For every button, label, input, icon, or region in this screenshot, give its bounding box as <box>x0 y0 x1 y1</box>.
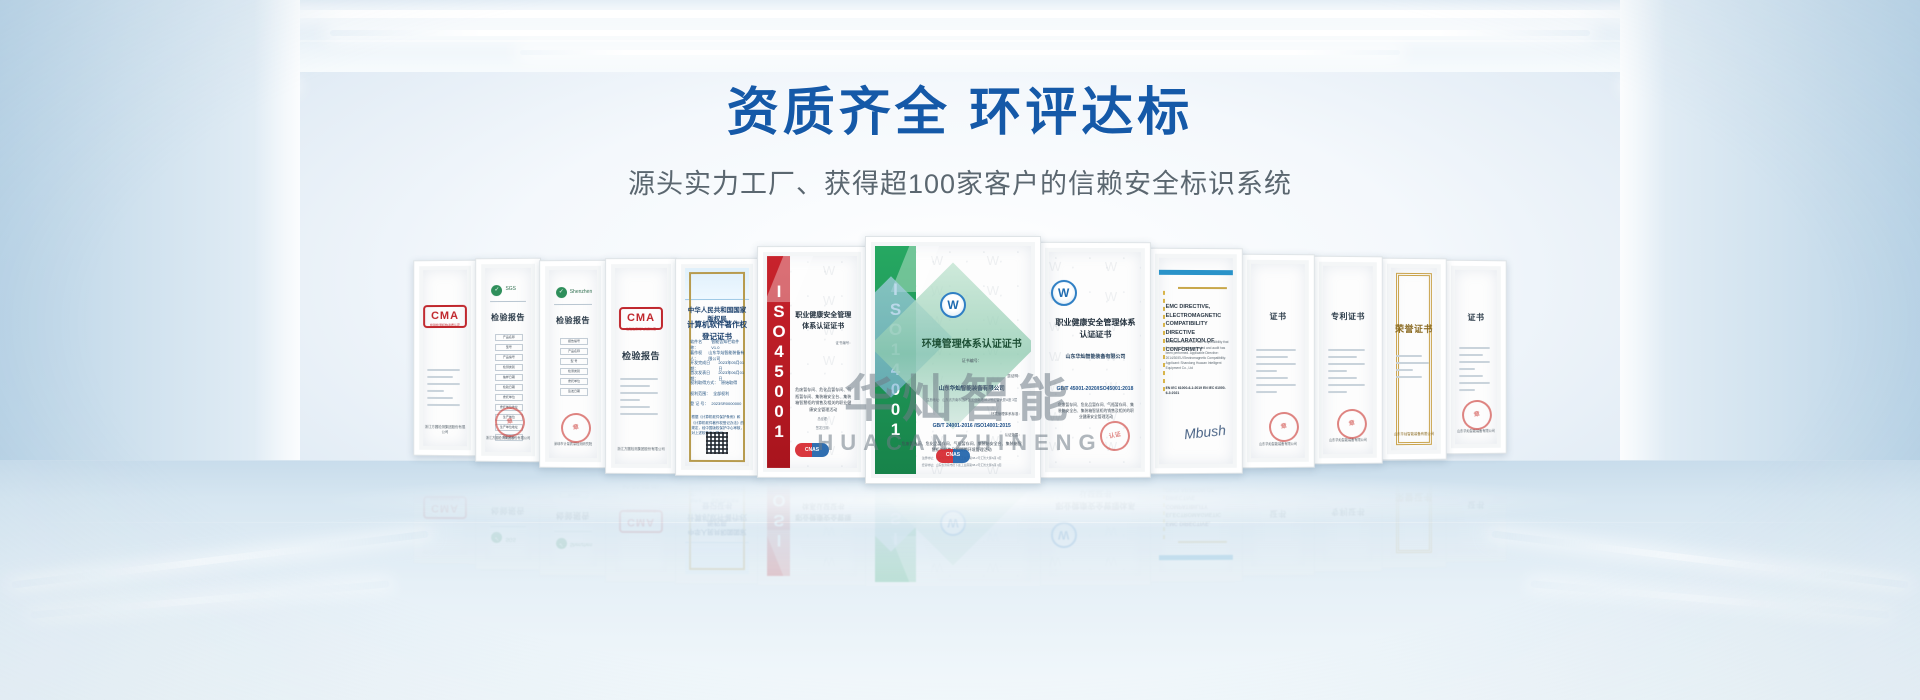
iso-standard-label: ISO45001 <box>767 282 791 442</box>
banner-headings: 资质齐全 环评达标 源头实力工厂、获得超100家客户的信赖安全标识系统 <box>0 84 1920 201</box>
org-mark-label: Shenzhen <box>570 289 593 297</box>
cert-heading: 荣誉证书 <box>1391 323 1437 337</box>
cert-field: 型 号 <box>560 358 589 365</box>
certificate-paper: CMA检验检测机构资质认定浙江方圆检测集团股份有限公司 <box>423 270 467 446</box>
certificate-frame[interactable]: 证书山东华灿智能装备有限公司章 <box>1445 260 1507 455</box>
cert-footer: 浙江方圆检测集团股份有限公司 <box>615 447 667 452</box>
company-address: 注册地址：山东省济南市历下区工业南路98-2号汇智大厦A座 3层 <box>922 398 1022 403</box>
certificate-wall-reflection: CMA检验检测机构资质认定浙江方圆检测集团股份有限公司✓SGS检验报告产品名称型… <box>310 478 1610 586</box>
certificate-frame[interactable]: W W W W W W W W W W W W W W W W W W W W … <box>865 236 1041 484</box>
red-seal-stamp: 章 <box>1334 406 1369 442</box>
certificate-wall: CMA检验检测机构资质认定浙江方圆检测集团股份有限公司✓SGS检验报告产品名称型… <box>310 228 1610 478</box>
qr-code-icon <box>706 432 728 454</box>
certificate-frame[interactable]: W W W W W W W W W W W W W W W W W W W W … <box>1039 242 1151 478</box>
cert-heading: 检验报告 <box>549 509 597 521</box>
cert-footer: 山东华灿智能装备有限公司 <box>1391 432 1437 437</box>
cert-field: 抽样日期 <box>495 374 523 381</box>
accreditation-org-logo: ✓SGS <box>492 532 516 543</box>
accreditation-org-logo: ✓SGS <box>492 284 516 295</box>
certificate-frame[interactable]: CMA检验检测机构资质认定浙江方圆检测集团股份有限公司 <box>413 260 477 457</box>
cert-field: 产品名称 <box>560 481 589 488</box>
cert-body-lines <box>1396 355 1433 383</box>
cert-heading: 证书 <box>1455 312 1497 324</box>
certificate-frame[interactable]: ✓SGS检验报告产品名称型号产品编号检测类别抽样日期检验日期委托单位委托单位地址… <box>475 258 541 463</box>
signature-graphic: Mbush <box>1183 420 1227 445</box>
cert-field: 权利范围：全部权利 <box>690 391 745 397</box>
cert-footer: 山东华灿智能装备有限公司 <box>1251 441 1305 446</box>
ce-rule <box>1178 287 1227 289</box>
cert-field: 报告编号 <box>560 338 589 345</box>
certificate-frame[interactable]: 中华人民共和国国家版权局计算机软件著作权登记证书软件名称：智能告知栏软件 V1.… <box>675 258 759 476</box>
cma-badge-subtitle: 检验检测机构资质认定 <box>423 497 467 502</box>
cert-number: 证书编号： <box>922 358 1022 364</box>
cma-badge-subtitle: 检验检测机构资质认定 <box>615 327 667 332</box>
cert-rule <box>554 304 592 305</box>
org-mark-label: SGS <box>505 534 516 542</box>
certification-seal-icon <box>1051 522 1077 548</box>
cert-field: 签发日期 <box>560 388 589 395</box>
standard-code: GB/T 45001-2020/ISO45001:2018 <box>1049 386 1141 394</box>
cert-heading: 检验报告 <box>615 350 667 364</box>
cert-heading: 检验报告 <box>615 476 667 490</box>
cert-heading: 证书 <box>1251 310 1305 322</box>
cert-field: 产品名称 <box>495 487 523 494</box>
certificate-paper: 证书山东华灿智能装备有限公司章 <box>1251 264 1305 458</box>
accreditation-ribbon: CNAS <box>795 443 829 457</box>
org-mark-label: SGS <box>505 286 516 294</box>
certificate-frame[interactable]: 专利证书山东华灿智能装备有限公司章 <box>1313 256 1383 465</box>
cma-badge-subtitle: 检验检测机构资质认定 <box>615 509 667 514</box>
cert-body-lines <box>620 378 662 420</box>
scope-text: 危废暂存间、危化品暂存间、气瓶暂存间、集装箱安全台、集装箱智慧柜的销售及相关的职… <box>794 387 853 413</box>
cert-rule <box>490 301 527 302</box>
cert-number: 证书编号： <box>1054 489 1136 494</box>
certificate-frame[interactable]: 荣誉证书山东华灿智能装备有限公司 <box>1381 258 1447 461</box>
cert-number: 证书编号： <box>1054 334 1136 339</box>
certificate-paper: ✓Shenzhen检验报告报告编号产品名称型 号检测类别委托单位签发日期深圳市计… <box>549 270 597 458</box>
accreditation-org-logo: ✓Shenzhen <box>556 287 592 298</box>
ceiling-light-strip-3 <box>520 50 1400 55</box>
floor-light-left-2 <box>30 580 389 618</box>
cert-heading: 专利证书 <box>1323 311 1373 323</box>
cert-field: 产品名称 <box>495 334 523 341</box>
cert-heading: 荣誉证书 <box>1391 490 1437 504</box>
certificate-frame[interactable]: CMA检验检测机构资质认定检验报告浙江方圆检测集团股份有限公司 <box>605 258 677 474</box>
certificate-frame[interactable]: 证书山东华灿智能装备有限公司章 <box>1241 254 1315 469</box>
cert-heading: 检验报告 <box>485 312 531 324</box>
certificate-frame[interactable]: EMC DIRECTIVE,ELECTROMAGNETIC COMPATIBIL… <box>1149 248 1243 475</box>
red-seal-stamp: 章 <box>1459 397 1494 433</box>
page-title: 资质齐全 环评达标 <box>0 84 1920 142</box>
cert-number: 证书编号： <box>794 486 853 491</box>
certificate-frame[interactable]: W W W W W W W W W W W W W W W W W W W W … <box>757 246 867 478</box>
certificate-frame[interactable]: ✓Shenzhen检验报告报告编号产品名称型 号检测类别委托单位签发日期深圳市计… <box>539 260 607 468</box>
ce-rule <box>1178 541 1227 543</box>
ce-body-text: We declare under our sole responsibility… <box>1166 340 1229 371</box>
cert-field: 检验日期 <box>495 384 523 391</box>
certification-seal-icon <box>1051 280 1077 306</box>
certification-seal-icon <box>940 292 966 318</box>
accreditation-org-logo: ✓Shenzhen <box>556 538 592 549</box>
cert-heading-2: 计算机软件著作权登记证书 <box>685 500 749 523</box>
cert-heading: 检验报告 <box>485 504 531 516</box>
certificate-paper: EMC DIRECTIVE,ELECTROMAGNETIC COMPATIBIL… <box>1159 258 1233 464</box>
certificate-paper: 中华人民共和国国家版权局计算机软件著作权登记证书软件名称：智能告知栏软件 V1.… <box>685 268 749 466</box>
company-label: 兹证明： <box>922 374 1022 379</box>
standard-label: 环境管理体系标准： <box>922 412 1022 417</box>
org-mark-label: Shenzhen <box>570 540 593 548</box>
ce-top-bar <box>1159 554 1233 559</box>
cert-field: 检测类别 <box>560 368 589 375</box>
certificate-paper: 荣誉证书山东华灿智能装备有限公司 <box>1391 268 1437 450</box>
ceiling-light-strip-2 <box>330 30 1590 36</box>
cert-field: 检测类别 <box>495 364 523 371</box>
cert-field: 委托单位 <box>560 378 589 385</box>
cert-heading: 职业健康安全管理体系认证证书 <box>794 500 853 521</box>
org-mark-icon: ✓ <box>492 285 503 296</box>
cert-field: 产品名称 <box>560 348 589 355</box>
issuer-line: 总经理： <box>798 417 850 422</box>
cert-number: 证书编号： <box>794 341 853 346</box>
cma-badge-icon: CMA <box>619 510 663 533</box>
address-line: 经营地址：山东省济南市历下区工业南路98-2号汇智大厦A座 3层 <box>900 463 1023 467</box>
cert-body-lines <box>1459 347 1492 396</box>
certificate-paper: 证书山东华灿智能装备有限公司章 <box>1455 270 1497 444</box>
cert-field: 著作权人：山东华灿智能装备有限公司 <box>690 480 745 492</box>
cert-heading: 职业健康安全管理体系认证证书 <box>794 311 853 332</box>
cert-field: 登 记 号：2023SR0000000 <box>690 401 745 407</box>
org-mark-icon: ✓ <box>556 538 567 549</box>
cert-body-lines <box>1256 349 1299 398</box>
certificate-paper: W W W W W W W W W W W W W W W W W W W W … <box>875 246 1031 474</box>
accreditation-ribbon: CNAS <box>936 449 970 463</box>
certification-seal-icon <box>940 510 966 536</box>
cert-footer: 浙江方圆检测集团股份有限公司 <box>423 425 467 436</box>
ceiling-light-strip-1 <box>150 10 1770 18</box>
standard-code: GB/T 24001-2016 /ISO14001:2015 <box>919 423 1025 431</box>
certificate-paper: W W W W W W W W W W W W W W W W W W W W … <box>767 256 857 468</box>
ce-top-bar <box>1159 270 1233 275</box>
certificate-paper: 专利证书山东华灿智能装备有限公司章 <box>1323 266 1373 454</box>
company-name: 山东华灿智能装备有限公司 <box>922 385 1022 393</box>
cert-heading: 证书 <box>1251 507 1305 519</box>
cert-field: 委托单位 <box>495 394 523 401</box>
org-mark-icon: ✓ <box>556 287 567 298</box>
iso-standard-band: ISO45001 <box>767 256 790 468</box>
page-subtitle: 源头实力工厂、获得超100家客户的信赖安全标识系统 <box>0 162 1920 201</box>
red-seal-stamp: 章 <box>1266 410 1301 446</box>
scope-text: 危废暂存间、危化品暂存间、气瓶暂存间、集装箱安全台、集装箱智慧柜的销售及相关的职… <box>1056 403 1135 421</box>
floor-light-right-2 <box>1530 580 1889 618</box>
certificate-paper: ✓SGS检验报告产品名称型号产品编号检测类别抽样日期检验日期委托单位委托单位地址… <box>485 268 531 452</box>
cert-field: 报告编号 <box>560 491 589 498</box>
cert-body-lines <box>1328 349 1368 398</box>
cert-rule <box>490 526 527 527</box>
company-name: 山东华灿智能装备有限公司 <box>1054 354 1136 362</box>
cma-badge-subtitle: 检验检测机构资质认定 <box>423 323 467 328</box>
org-mark-icon: ✓ <box>492 532 503 543</box>
certificate-paper: CMA检验检测机构资质认定检验报告浙江方圆检测集团股份有限公司 <box>615 268 667 464</box>
red-seal-stamp: 章 <box>559 410 595 445</box>
cert-field: 软件名称：智能告知栏软件 V1.0 <box>690 491 745 503</box>
cert-heading: 检验报告 <box>549 315 597 327</box>
cert-field: 型号 <box>495 344 523 351</box>
cert-rule <box>554 531 592 532</box>
banner-stage: 资质齐全 环评达标 源头实力工厂、获得超100家客户的信赖安全标识系统 CMA检… <box>0 0 1920 700</box>
cert-heading: 证书 <box>1455 498 1497 510</box>
cert-heading: 环境管理体系认证证书 <box>919 337 1025 352</box>
cert-heading: 专利证书 <box>1323 505 1373 517</box>
ce-standards: EN IEC 61000-6-1:2019 EN IEC 61000-6-3:2… <box>1166 386 1229 396</box>
cert-field: 权利取得方式：原始取得 <box>690 380 745 386</box>
cert-field: 产品编号 <box>495 354 523 361</box>
issuer-line: 签发日期： <box>798 426 850 431</box>
scope-label: 认证范围： <box>922 433 1022 438</box>
cert-body-lines <box>428 369 463 411</box>
certificate-paper: W W W W W W W W W W W W W W W W W W W W … <box>1049 252 1141 468</box>
